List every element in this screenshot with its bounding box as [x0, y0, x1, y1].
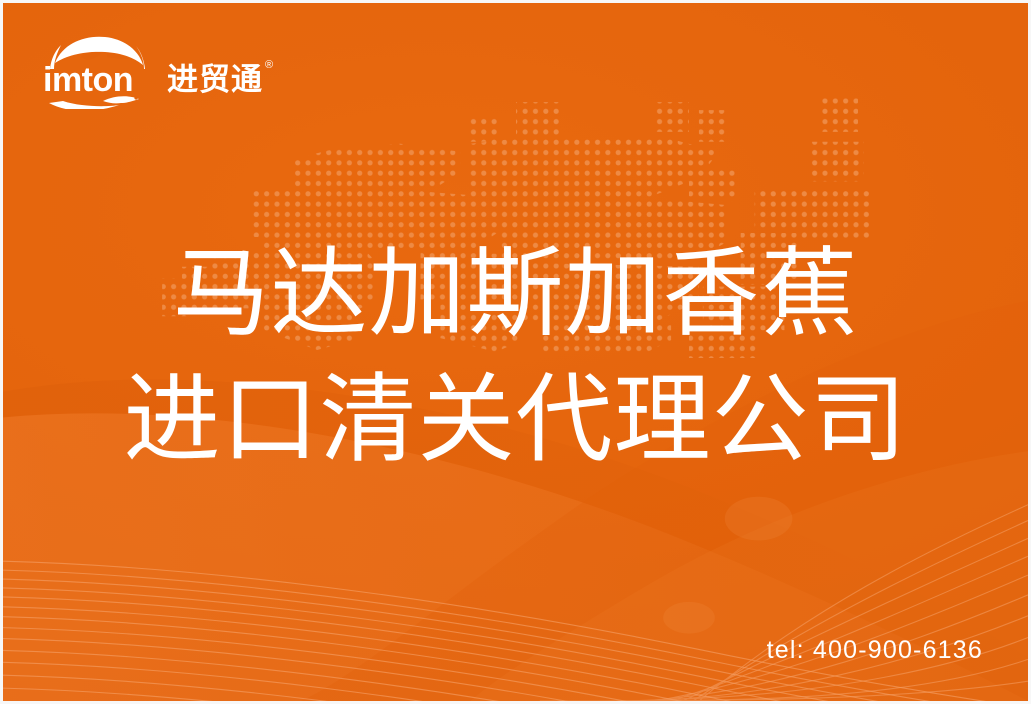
telephone-contact[interactable]: tel: 400-900-6136 [767, 636, 983, 665]
promo-banner: imton 进贸通 ® 马达加斯加香蕉 进口清关代理公司 tel: 400-90… [0, 0, 1031, 704]
logo-chinese-wordmark: 进贸通 ® [167, 48, 273, 95]
page-title: 马达加斯加香蕉 进口清关代理公司 [3, 231, 1028, 483]
svg-text:imton: imton [43, 61, 133, 99]
imton-logo-mark: imton [41, 33, 161, 109]
title-line-1: 马达加斯加香蕉 [3, 231, 1028, 357]
brand-logo[interactable]: imton 进贸通 ® [41, 35, 273, 107]
title-line-2: 进口清关代理公司 [3, 357, 1028, 483]
registered-trademark-icon: ® [265, 60, 273, 71]
logo-chinese-text: 进贸通 [167, 64, 263, 95]
